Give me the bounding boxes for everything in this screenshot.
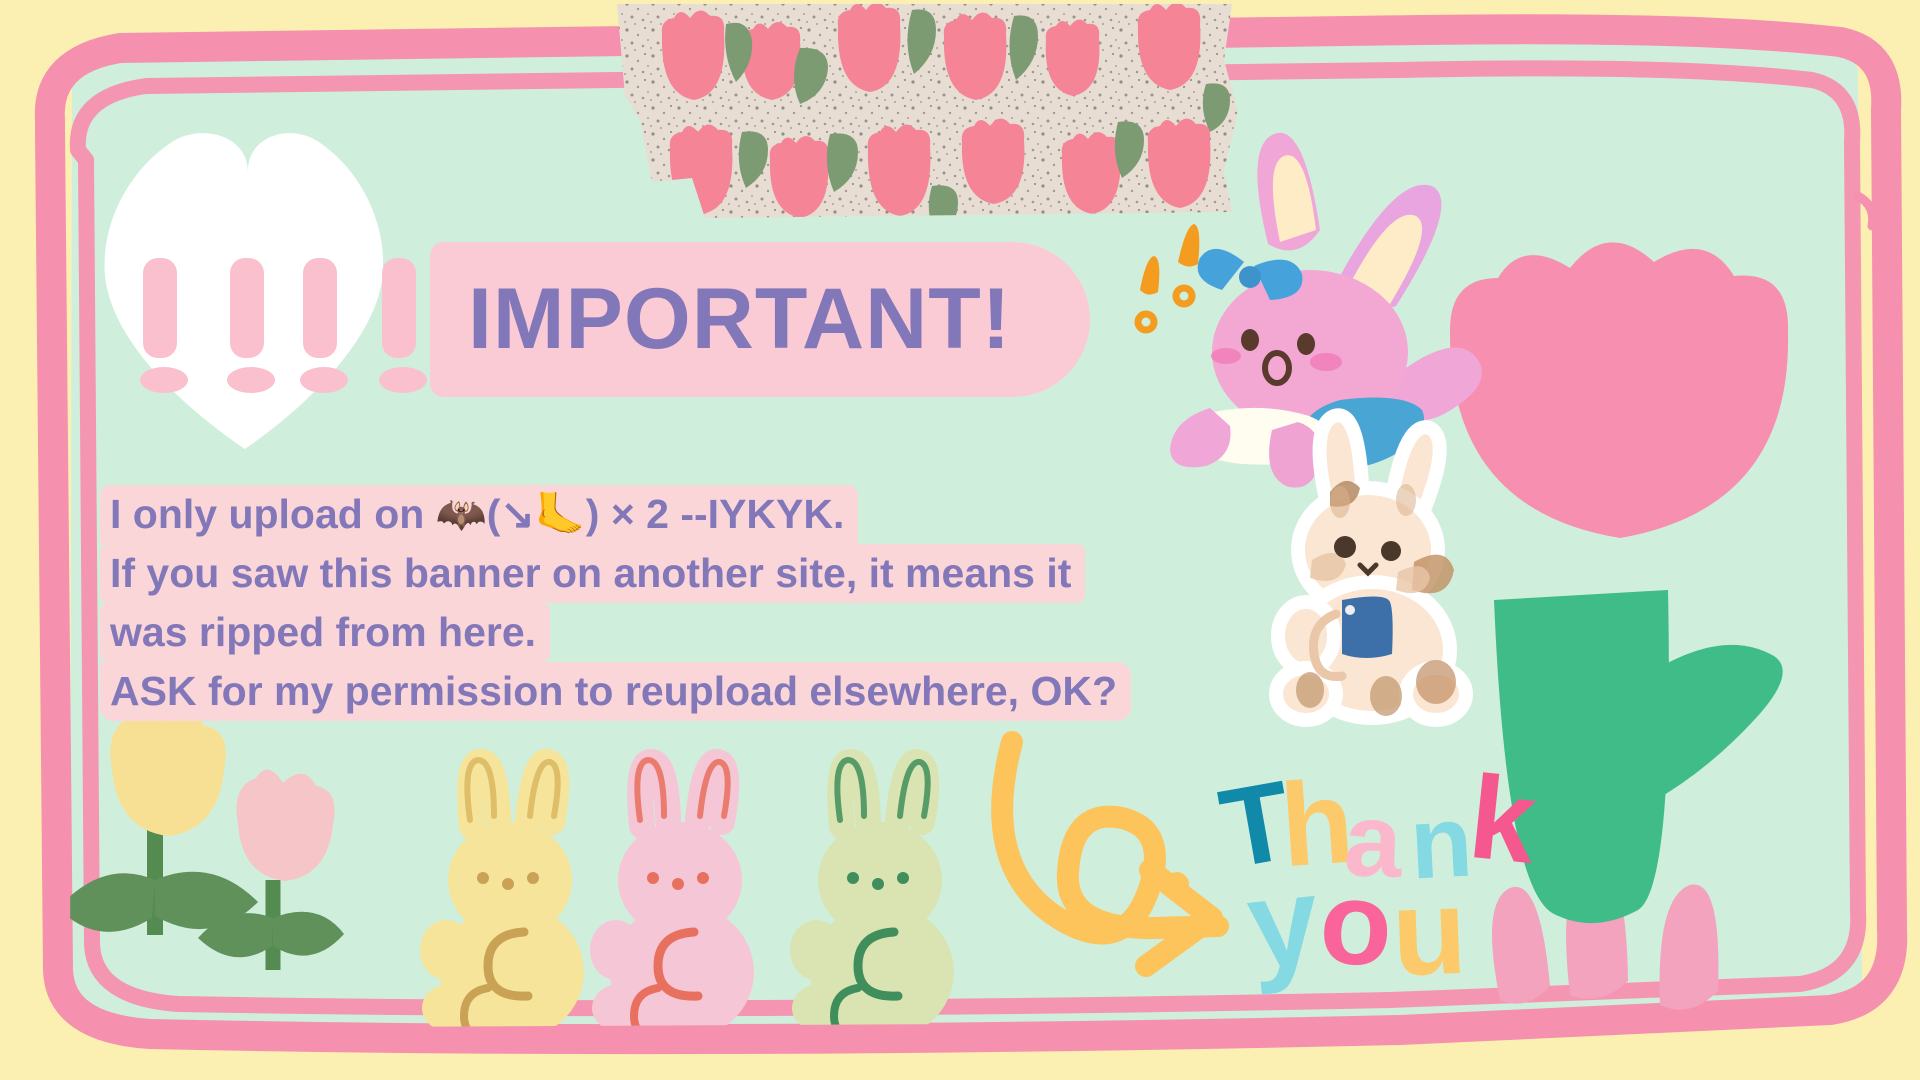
thank-you-letter-u: u (1390, 861, 1469, 1004)
page-title: IMPORTANT! (430, 270, 1011, 369)
banner-canvas: IMPORTANT! I only upload on 🦇(↘🦶) × 2 --… (0, 0, 1920, 1080)
thank-you-letter-y: y (1241, 847, 1326, 999)
notice-line-4: ASK for my permission to reupload elsewh… (100, 662, 1131, 721)
notice-line-3: was ripped from here. (100, 603, 550, 662)
thank-you-letter-o: o (1316, 854, 1395, 994)
notice-line-1: I only upload on 🦇(↘🦶) × 2 --IYKYK. (100, 485, 858, 544)
important-title-banner: IMPORTANT! (430, 242, 1090, 397)
notice-line-2: If you saw this banner on another site, … (100, 544, 1085, 603)
thank-you-letter-k: k (1463, 749, 1542, 891)
notice-text-block: I only upload on 🦇(↘🦶) × 2 --IYKYK. If y… (100, 485, 1210, 721)
